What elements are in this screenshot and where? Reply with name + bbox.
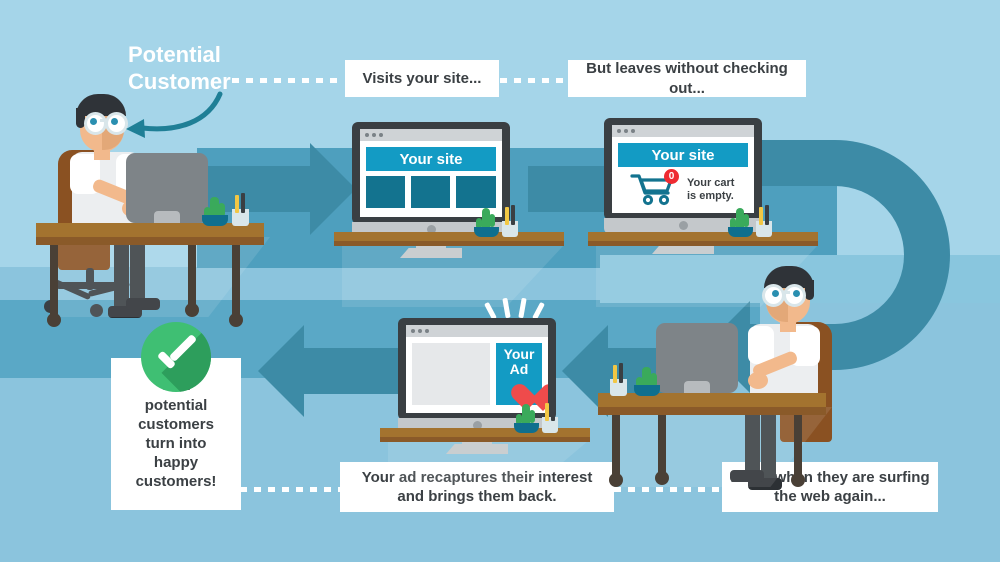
pen <box>765 205 769 225</box>
site-banner-text: Your site <box>399 151 462 168</box>
browser-dot <box>631 129 635 133</box>
browser-dot <box>425 329 429 333</box>
potential-customer-label: Potential Customer <box>128 42 328 96</box>
shelf-surface <box>334 232 564 241</box>
pen <box>511 205 515 225</box>
monitor-screen: Your site 0 Your cart is empty. <box>612 125 754 213</box>
desk-edge-left <box>36 237 264 245</box>
pupil-left <box>793 290 800 297</box>
monitor-screen: Your site <box>360 129 502 217</box>
desk-surface-right <box>598 393 826 407</box>
desk-edge-right <box>598 407 826 415</box>
desk-foot <box>229 313 243 327</box>
desk-foot <box>655 471 669 485</box>
check-mark-icon <box>141 322 211 392</box>
dotted-connector-2 <box>500 78 568 83</box>
desk-foot <box>791 473 805 487</box>
plant-pot <box>202 215 228 226</box>
curved-arrow-icon <box>100 88 230 140</box>
ad-line1: Your <box>496 347 542 362</box>
browser-dot <box>617 129 621 133</box>
callout-leaves-text: But leaves without checking out... <box>568 59 806 97</box>
callout-visits-text: Visits your site... <box>363 69 482 88</box>
happy-line-4: turn into <box>146 434 207 453</box>
site-banner: Your site <box>618 143 748 167</box>
cart-empty-message: Your cart is empty. <box>687 177 753 202</box>
cactus-arm <box>529 410 535 423</box>
callout-visits: Visits your site... <box>345 60 499 97</box>
monitor-screen: Your Ad <box>406 325 548 413</box>
browser-dot <box>372 133 376 137</box>
desk-leg <box>658 415 666 475</box>
happy-line-2: potential <box>145 396 208 415</box>
shelf-surface <box>380 428 590 437</box>
shelf-under-monitor-3 <box>380 428 590 488</box>
site-banner-text: Your site <box>651 147 714 164</box>
potential-customer-line1: Potential <box>128 42 328 69</box>
dotted-connector-3 <box>240 487 342 492</box>
desk-leg <box>612 415 620 477</box>
cactus-arm <box>743 214 749 227</box>
shelf-edge <box>588 241 818 246</box>
shelf-surface <box>588 232 818 241</box>
plant-pot <box>474 227 499 237</box>
shelf-shadow <box>388 441 588 485</box>
ad-panel: Your Ad <box>496 343 542 405</box>
desk-leg <box>232 245 240 317</box>
callout-recaptures-line2: and brings them back. <box>397 487 556 506</box>
plant-pot <box>728 227 753 237</box>
plant-pot <box>514 423 539 433</box>
browser-dot <box>418 329 422 333</box>
plant-pot <box>634 385 660 396</box>
desk-leg <box>794 415 802 477</box>
browser-dot <box>411 329 415 333</box>
site-content-block <box>366 176 405 208</box>
cactus-arm <box>489 214 495 227</box>
cart-count-value: 0 <box>669 171 675 182</box>
happy-line-5: happy <box>154 453 198 472</box>
pen <box>551 401 555 421</box>
pencil <box>613 365 617 383</box>
sparkle <box>502 298 510 319</box>
site-banner: Your site <box>366 147 496 171</box>
monitor-logo-dot <box>679 221 688 230</box>
site-content-block <box>411 176 450 208</box>
pupil-right <box>772 290 779 297</box>
pencil <box>505 207 509 225</box>
cart-count-badge: 0 <box>664 169 679 184</box>
arrow-left-step4 <box>258 325 408 417</box>
shelf-edge <box>380 437 590 442</box>
infographic-canvas: Potential Customer Visits your site... B… <box>0 0 1000 562</box>
desk-foot <box>185 303 199 317</box>
ad-line2: Ad <box>496 362 542 377</box>
sparkle <box>518 298 526 319</box>
shelf-shadow <box>342 245 564 307</box>
browser-dot <box>624 129 628 133</box>
hair-side-right <box>805 280 814 300</box>
pencil <box>545 403 549 421</box>
glasses-bridge <box>783 291 790 294</box>
browser-dot <box>365 133 369 137</box>
happy-line-3: customers <box>138 415 214 434</box>
desk-foot <box>47 313 61 327</box>
dotted-connector-1 <box>232 78 344 83</box>
desk-surface-left <box>36 223 264 237</box>
pencil <box>235 195 239 213</box>
check-tick <box>141 322 211 392</box>
browser-dot <box>379 133 383 137</box>
pen <box>241 193 245 213</box>
desk-leg <box>50 245 58 317</box>
cart-empty-line2: is empty. <box>687 190 753 203</box>
site-content-block <box>456 176 496 208</box>
pen <box>619 363 623 383</box>
happy-line-6: customers! <box>136 472 217 491</box>
desk-foot <box>609 473 623 487</box>
shelf-edge <box>334 241 564 246</box>
page-content-placeholder <box>412 343 490 405</box>
pencil <box>759 207 763 225</box>
cart-empty-line1: Your cart <box>687 177 753 190</box>
pupil-left <box>90 118 97 125</box>
desk-right <box>598 385 830 515</box>
callout-leaves: But leaves without checking out... <box>568 60 806 97</box>
desk-leg <box>188 245 196 307</box>
